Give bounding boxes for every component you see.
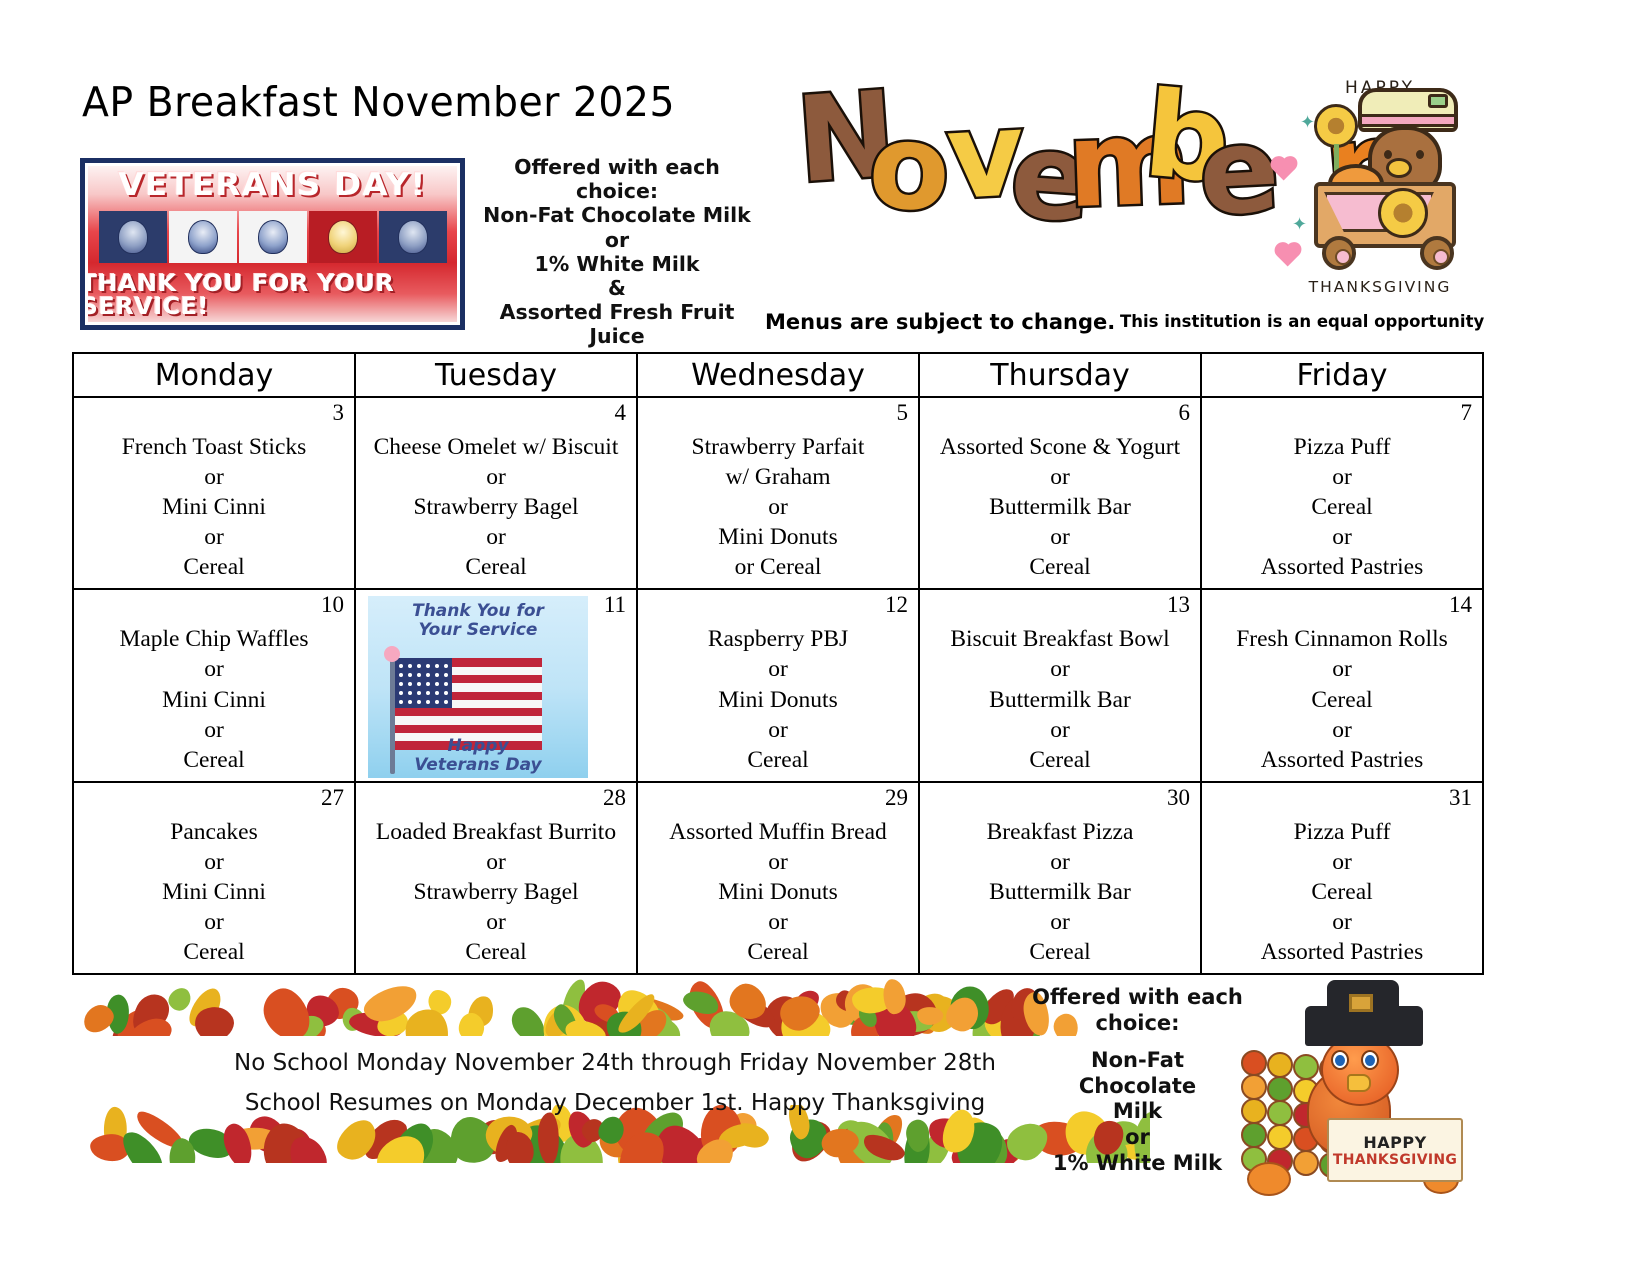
menu-item: Strawberry Bagel — [366, 877, 626, 907]
wagon-wheel-left — [1322, 236, 1356, 270]
menu-item: Cereal — [1212, 492, 1472, 522]
day-number: 5 — [897, 400, 909, 426]
day-header-tuesday: Tuesday — [355, 353, 637, 397]
menu-item: Assorted Scone & Yogurt — [930, 432, 1190, 462]
calendar-week-row: 27PancakesorMini CinniorCereal28Loaded B… — [73, 782, 1483, 974]
calendar-day-cell[interactable]: 13Biscuit Breakfast BowlorButtermilk Bar… — [919, 589, 1201, 781]
day-number: 3 — [333, 400, 345, 426]
menu-item: or — [930, 654, 1190, 684]
thanksgiving-wagon-illustration: HAPPY THANKSGIVING ✦ ✦ — [1270, 70, 1490, 320]
flag-text-line3: Happy — [447, 736, 508, 756]
menu-item: or — [84, 522, 344, 552]
day-header-friday: Friday — [1201, 353, 1483, 397]
menu-items: Loaded Breakfast BurritoorStrawberry Bag… — [366, 817, 626, 967]
flag-text-line4: Veterans Day — [414, 755, 541, 775]
calendar-week-row: 3French Toast SticksorMini CinniorCereal… — [73, 397, 1483, 589]
menu-item: Breakfast Pizza — [930, 817, 1190, 847]
day-number: 28 — [603, 785, 626, 811]
military-service-seals — [99, 211, 447, 263]
turkey-sign-line1: HAPPY — [1363, 1133, 1426, 1152]
calendar-day-cell[interactable]: 29Assorted Muffin BreadorMini DonutsorCe… — [637, 782, 919, 974]
menu-items: Assorted Scone & YogurtorButtermilk Baro… — [930, 432, 1190, 582]
menu-items: Breakfast PizzaorButtermilk BarorCereal — [930, 817, 1190, 967]
menu-item: or — [1212, 715, 1472, 745]
menu-items: Pizza PufforCerealorAssorted Pastries — [1212, 817, 1472, 967]
heart-icon — [1277, 245, 1299, 267]
sparkle-icon: ✦ — [1300, 112, 1315, 133]
menu-item: Cereal — [84, 552, 344, 582]
calendar-day-cell[interactable]: 28Loaded Breakfast BurritoorStrawberry B… — [355, 782, 637, 974]
menu-item: Pizza Puff — [1212, 432, 1472, 462]
calendar-week-row: 10Maple Chip WafflesorMini CinniorCereal… — [73, 589, 1483, 781]
menu-item: Cheese Omelet w/ Biscuit — [366, 432, 626, 462]
november-word-art: N o v e m b e r — [795, 68, 1250, 243]
autumn-leaves-border-top — [80, 978, 1150, 1036]
menu-items: Assorted Muffin BreadorMini DonutsorCere… — [648, 817, 908, 967]
veterans-banner-inner: VETERANS DAY! THANK YOU FOR YOUR SERVICE… — [88, 166, 457, 322]
army-seal-icon — [169, 211, 237, 263]
flag-image-bottom-text: HappyVeterans Day — [368, 737, 588, 774]
menu-item: or — [366, 462, 626, 492]
menu-item: Strawberry Bagel — [366, 492, 626, 522]
menu-item: Assorted Muffin Bread — [648, 817, 908, 847]
turkey-feather-icon — [1293, 1054, 1319, 1080]
menu-item: Assorted Pastries — [1212, 745, 1472, 775]
offered-top-line-1: Non-Fat Chocolate Milk — [472, 203, 762, 227]
menu-item: or — [1212, 847, 1472, 877]
day-number: 12 — [885, 592, 908, 618]
menu-item: Mini Cinni — [84, 492, 344, 522]
wagon-wheel-right — [1420, 236, 1454, 270]
day-number: 30 — [1167, 785, 1190, 811]
veterans-banner-title: VETERANS DAY! — [118, 170, 426, 201]
menu-item: Cereal — [1212, 685, 1472, 715]
menu-item: or — [84, 715, 344, 745]
calendar-day-cell[interactable]: 10Maple Chip WafflesorMini CinniorCereal — [73, 589, 355, 781]
offered-with-each-choice-bottom: Offered with each choice: Non-Fat Chocol… — [1030, 985, 1245, 1176]
menu-item: Biscuit Breakfast Bowl — [930, 624, 1190, 654]
menu-items: Maple Chip WafflesorMini CinniorCereal — [84, 624, 344, 774]
calendar-day-cell[interactable]: 7Pizza PufforCerealorAssorted Pastries — [1201, 397, 1483, 589]
menu-item: Cereal — [1212, 877, 1472, 907]
menu-item: Assorted Pastries — [1212, 552, 1472, 582]
offered-top-line-2: or — [472, 228, 762, 252]
flag-text-line2: Your Service — [419, 620, 538, 640]
day-number: 29 — [885, 785, 908, 811]
menu-items: Strawberry Parfaitw/ GrahamorMini Donuts… — [648, 432, 908, 582]
menu-item: or — [648, 847, 908, 877]
menu-item: Mini Donuts — [648, 685, 908, 715]
menu-items: French Toast SticksorMini CinniorCereal — [84, 432, 344, 582]
sunflower-icon — [1378, 188, 1428, 238]
menu-item: Cereal — [930, 745, 1190, 775]
menu-item: Mini Donuts — [648, 877, 908, 907]
menu-item: Loaded Breakfast Burrito — [366, 817, 626, 847]
day-header-thursday: Thursday — [919, 353, 1201, 397]
menu-item: Cereal — [930, 552, 1190, 582]
menu-item: or — [648, 715, 908, 745]
page-title: AP Breakfast November 2025 — [82, 78, 675, 126]
calendar-day-cell[interactable]: 31Pizza PufforCerealorAssorted Pastries — [1201, 782, 1483, 974]
menu-item: or — [1212, 654, 1472, 684]
menu-items: Cheese Omelet w/ BiscuitorStrawberry Bag… — [366, 432, 626, 582]
flag-text-line1: Thank You for — [412, 601, 544, 621]
menu-item: or — [366, 847, 626, 877]
pilgrim-hat-icon — [1305, 1006, 1423, 1046]
offered-bottom-line-2: Non-Fat Chocolate — [1030, 1048, 1245, 1099]
pumpkin-icon — [1247, 1162, 1291, 1196]
turkey-feather-icon — [1267, 1124, 1293, 1150]
menu-item: or — [84, 847, 344, 877]
autumn-leaf-icon — [257, 983, 316, 1036]
breakfast-menu-calendar: Monday Tuesday Wednesday Thursday Friday… — [72, 352, 1484, 975]
turkey-beak-icon — [1386, 158, 1412, 178]
offered-top-line-0: Offered with each choice: — [472, 155, 762, 203]
menu-items: Fresh Cinnamon RollsorCerealorAssorted P… — [1212, 624, 1472, 774]
turkey-feather-icon — [1241, 1098, 1267, 1124]
menu-item: or Cereal — [648, 552, 908, 582]
pilgrim-turkey-illustration: HAPPY THANKSGIVING — [1235, 1000, 1475, 1200]
menu-item: or — [648, 907, 908, 937]
menu-item: Cereal — [648, 745, 908, 775]
menu-item: French Toast Sticks — [84, 432, 344, 462]
heart-icon — [1273, 159, 1295, 181]
turkey-feather-icon — [1293, 1150, 1319, 1176]
calendar-day-cell[interactable]: 6Assorted Scone & YogurtorButtermilk Bar… — [919, 397, 1201, 589]
menus-subject-to-change-note: Menus are subject to change. — [765, 310, 1115, 334]
menu-item: Maple Chip Waffles — [84, 624, 344, 654]
menu-item: or — [930, 847, 1190, 877]
november-letter-o: o — [866, 106, 953, 228]
menu-item: or — [366, 907, 626, 937]
menu-item: Cereal — [366, 937, 626, 967]
menu-item: or — [1212, 462, 1472, 492]
turkey-feather-icon — [1267, 1052, 1293, 1078]
menu-item: Cereal — [648, 937, 908, 967]
day-number: 7 — [1461, 400, 1473, 426]
calendar-day-cell[interactable]: 4Cheese Omelet w/ BiscuitorStrawberry Ba… — [355, 397, 637, 589]
menu-item: Mini Donuts — [648, 522, 908, 552]
offered-with-each-choice-top: Offered with each choice: Non-Fat Chocol… — [472, 155, 762, 349]
menu-item: Mini Cinni — [84, 877, 344, 907]
menu-item: Mini Cinni — [84, 685, 344, 715]
equal-opportunity-note: This institution is an equal opportunity — [1120, 312, 1484, 331]
calendar-header-row: Monday Tuesday Wednesday Thursday Friday — [73, 353, 1483, 397]
menu-items: Raspberry PBJorMini DonutsorCereal — [648, 624, 908, 774]
menu-item: or — [84, 907, 344, 937]
coast-guard-seal-icon — [239, 211, 307, 263]
calendar-day-cell[interactable]: 5Strawberry Parfaitw/ GrahamorMini Donut… — [637, 397, 919, 589]
sparkle-icon: ✦ — [1292, 214, 1307, 235]
menu-item: or — [84, 462, 344, 492]
menu-item: or — [84, 654, 344, 684]
day-number: 6 — [1179, 400, 1191, 426]
menu-item: Cereal — [84, 745, 344, 775]
no-school-notice-line1: No School Monday November 24th through F… — [150, 1043, 1080, 1083]
marines-seal-icon — [309, 211, 377, 263]
turkey-pupil-left — [1335, 1055, 1345, 1066]
menu-item: or — [648, 654, 908, 684]
day-number: 27 — [321, 785, 344, 811]
offered-bottom-line-0: Offered with each — [1030, 985, 1245, 1011]
menu-item: or — [930, 715, 1190, 745]
turkey-eye-right — [1416, 150, 1424, 159]
calendar-day-cell[interactable]: 12Raspberry PBJorMini DonutsorCereal — [637, 589, 919, 781]
air-force-seal-icon — [99, 211, 167, 263]
menu-item: Cereal — [930, 937, 1190, 967]
menu-item: Buttermilk Bar — [930, 877, 1190, 907]
menu-items: Pizza PufforCerealorAssorted Pastries — [1212, 432, 1472, 582]
menu-item: Buttermilk Bar — [930, 492, 1190, 522]
day-number: 11 — [604, 592, 626, 618]
turkey-feather-icon — [1241, 1050, 1267, 1076]
offered-bottom-line-4: or — [1030, 1125, 1245, 1151]
menu-page: AP Breakfast November 2025 VETERANS DAY!… — [0, 0, 1650, 1275]
turkey-eye-left — [1384, 150, 1392, 159]
day-header-monday: Monday — [73, 353, 355, 397]
day-number: 10 — [321, 592, 344, 618]
veterans-banner-subtitle: THANK YOU FOR YOUR SERVICE! — [88, 273, 457, 319]
veterans-day-banner: VETERANS DAY! THANK YOU FOR YOUR SERVICE… — [80, 158, 465, 330]
day-number: 4 — [615, 400, 627, 426]
offered-top-line-3: 1% White Milk — [472, 252, 762, 276]
day-number: 14 — [1449, 592, 1472, 618]
turkey-beak-icon — [1347, 1074, 1371, 1092]
sunflower-icon — [1314, 104, 1358, 148]
turkey-feather-icon — [1241, 1122, 1267, 1148]
turkey-feather-icon — [1267, 1076, 1293, 1102]
day-number: 13 — [1167, 592, 1190, 618]
menu-item: Assorted Pastries — [1212, 937, 1472, 967]
menu-item: or — [930, 522, 1190, 552]
menu-item: Cereal — [366, 552, 626, 582]
offered-top-line-5: Assorted Fresh Fruit — [472, 300, 762, 324]
calendar-day-cell[interactable]: 3French Toast SticksorMini CinniorCereal — [73, 397, 355, 589]
menu-item: or — [366, 522, 626, 552]
calendar-day-cell[interactable]: 14Fresh Cinnamon RollsorCerealorAssorted… — [1201, 589, 1483, 781]
flag-image-top-text: Thank You forYour Service — [368, 602, 588, 639]
turkey-feather-icon — [1241, 1074, 1267, 1100]
menu-item: Cereal — [84, 937, 344, 967]
offered-bottom-line-3: Milk — [1030, 1099, 1245, 1125]
menu-items: PancakesorMini CinniorCereal — [84, 817, 344, 967]
menu-item: Fresh Cinnamon Rolls — [1212, 624, 1472, 654]
offered-bottom-line-1: choice: — [1030, 1011, 1245, 1037]
veterans-day-flag-image: Thank You forYour ServiceHappyVeterans D… — [368, 596, 588, 778]
menu-item: or — [1212, 907, 1472, 937]
day-number: 31 — [1449, 785, 1472, 811]
offered-top-line-4: & — [472, 276, 762, 300]
menu-item: Pancakes — [84, 817, 344, 847]
offered-top-line-6: Juice — [472, 324, 762, 348]
menu-item: or — [930, 462, 1190, 492]
happy-thanksgiving-sign: HAPPY THANKSGIVING — [1327, 1118, 1463, 1182]
turkey-feather-icon — [1267, 1100, 1293, 1126]
offered-bottom-line-5: 1% White Milk — [1030, 1151, 1245, 1177]
menu-item: or — [930, 907, 1190, 937]
menu-item: Raspberry PBJ — [648, 624, 908, 654]
menu-item: w/ Graham — [648, 462, 908, 492]
menu-item: or — [648, 492, 908, 522]
menu-items: Biscuit Breakfast BowlorButtermilk Baror… — [930, 624, 1190, 774]
menu-item: Buttermilk Bar — [930, 685, 1190, 715]
calendar-day-cell[interactable]: 30Breakfast PizzaorButtermilk BarorCerea… — [919, 782, 1201, 974]
menu-item: Pizza Puff — [1212, 817, 1472, 847]
calendar-day-cell[interactable]: 11Thank You forYour ServiceHappyVeterans… — [355, 589, 637, 781]
navy-seal-icon — [379, 211, 447, 263]
no-school-notice-line2: School Resumes on Monday December 1st. H… — [150, 1083, 1080, 1123]
no-school-notice: No School Monday November 24th through F… — [150, 1043, 1080, 1124]
menu-item: or — [1212, 522, 1472, 552]
thanksgiving-text: THANKSGIVING — [1270, 278, 1490, 296]
turkey-pupil-right — [1365, 1055, 1375, 1066]
menu-item: Strawberry Parfait — [648, 432, 908, 462]
calendar-day-cell[interactable]: 27PancakesorMini CinniorCereal — [73, 782, 355, 974]
day-header-wednesday: Wednesday — [637, 353, 919, 397]
turkey-sign-line2: THANKSGIVING — [1333, 1152, 1457, 1168]
